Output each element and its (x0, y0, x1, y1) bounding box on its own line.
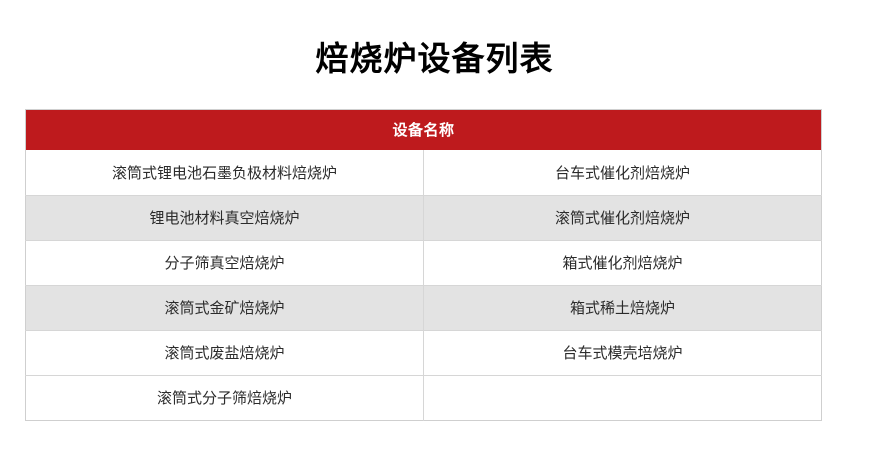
table-row: 分子筛真空焙烧炉 箱式催化剂焙烧炉 (26, 240, 822, 285)
equipment-table-container: 设备名称 滚筒式锂电池石墨负极材料焙烧炉 台车式催化剂焙烧炉 锂电池材料真空焙烧… (25, 109, 822, 421)
column-header-equipment-name: 设备名称 (26, 110, 822, 151)
table-head: 设备名称 (26, 110, 822, 151)
cell-equipment-name: 箱式稀土焙烧炉 (424, 285, 822, 330)
equipment-table: 设备名称 滚筒式锂电池石墨负极材料焙烧炉 台车式催化剂焙烧炉 锂电池材料真空焙烧… (25, 109, 822, 421)
cell-equipment-name: 滚筒式锂电池石墨负极材料焙烧炉 (26, 150, 424, 195)
table-row: 锂电池材料真空焙烧炉 滚筒式催化剂焙烧炉 (26, 195, 822, 240)
cell-equipment-name: 台车式模壳培烧炉 (424, 330, 822, 375)
table-row: 滚筒式分子筛焙烧炉 (26, 375, 822, 420)
cell-equipment-name: 台车式催化剂焙烧炉 (424, 150, 822, 195)
table-row: 滚筒式锂电池石墨负极材料焙烧炉 台车式催化剂焙烧炉 (26, 150, 822, 195)
table-row: 滚筒式金矿焙烧炉 箱式稀土焙烧炉 (26, 285, 822, 330)
page-root: 焙烧炉设备列表 设备名称 滚筒式锂电池石墨负极材料焙烧炉 台车式催化剂焙烧炉 锂… (0, 0, 869, 455)
cell-equipment-name: 滚筒式金矿焙烧炉 (26, 285, 424, 330)
cell-equipment-name-empty (424, 375, 822, 420)
cell-equipment-name: 箱式催化剂焙烧炉 (424, 240, 822, 285)
table-row: 滚筒式废盐焙烧炉 台车式模壳培烧炉 (26, 330, 822, 375)
cell-equipment-name: 锂电池材料真空焙烧炉 (26, 195, 424, 240)
cell-equipment-name: 滚筒式催化剂焙烧炉 (424, 195, 822, 240)
cell-equipment-name: 滚筒式废盐焙烧炉 (26, 330, 424, 375)
table-body: 滚筒式锂电池石墨负极材料焙烧炉 台车式催化剂焙烧炉 锂电池材料真空焙烧炉 滚筒式… (26, 150, 822, 420)
page-title: 焙烧炉设备列表 (0, 38, 869, 80)
cell-equipment-name: 分子筛真空焙烧炉 (26, 240, 424, 285)
table-header-row: 设备名称 (26, 110, 822, 151)
cell-equipment-name: 滚筒式分子筛焙烧炉 (26, 375, 424, 420)
